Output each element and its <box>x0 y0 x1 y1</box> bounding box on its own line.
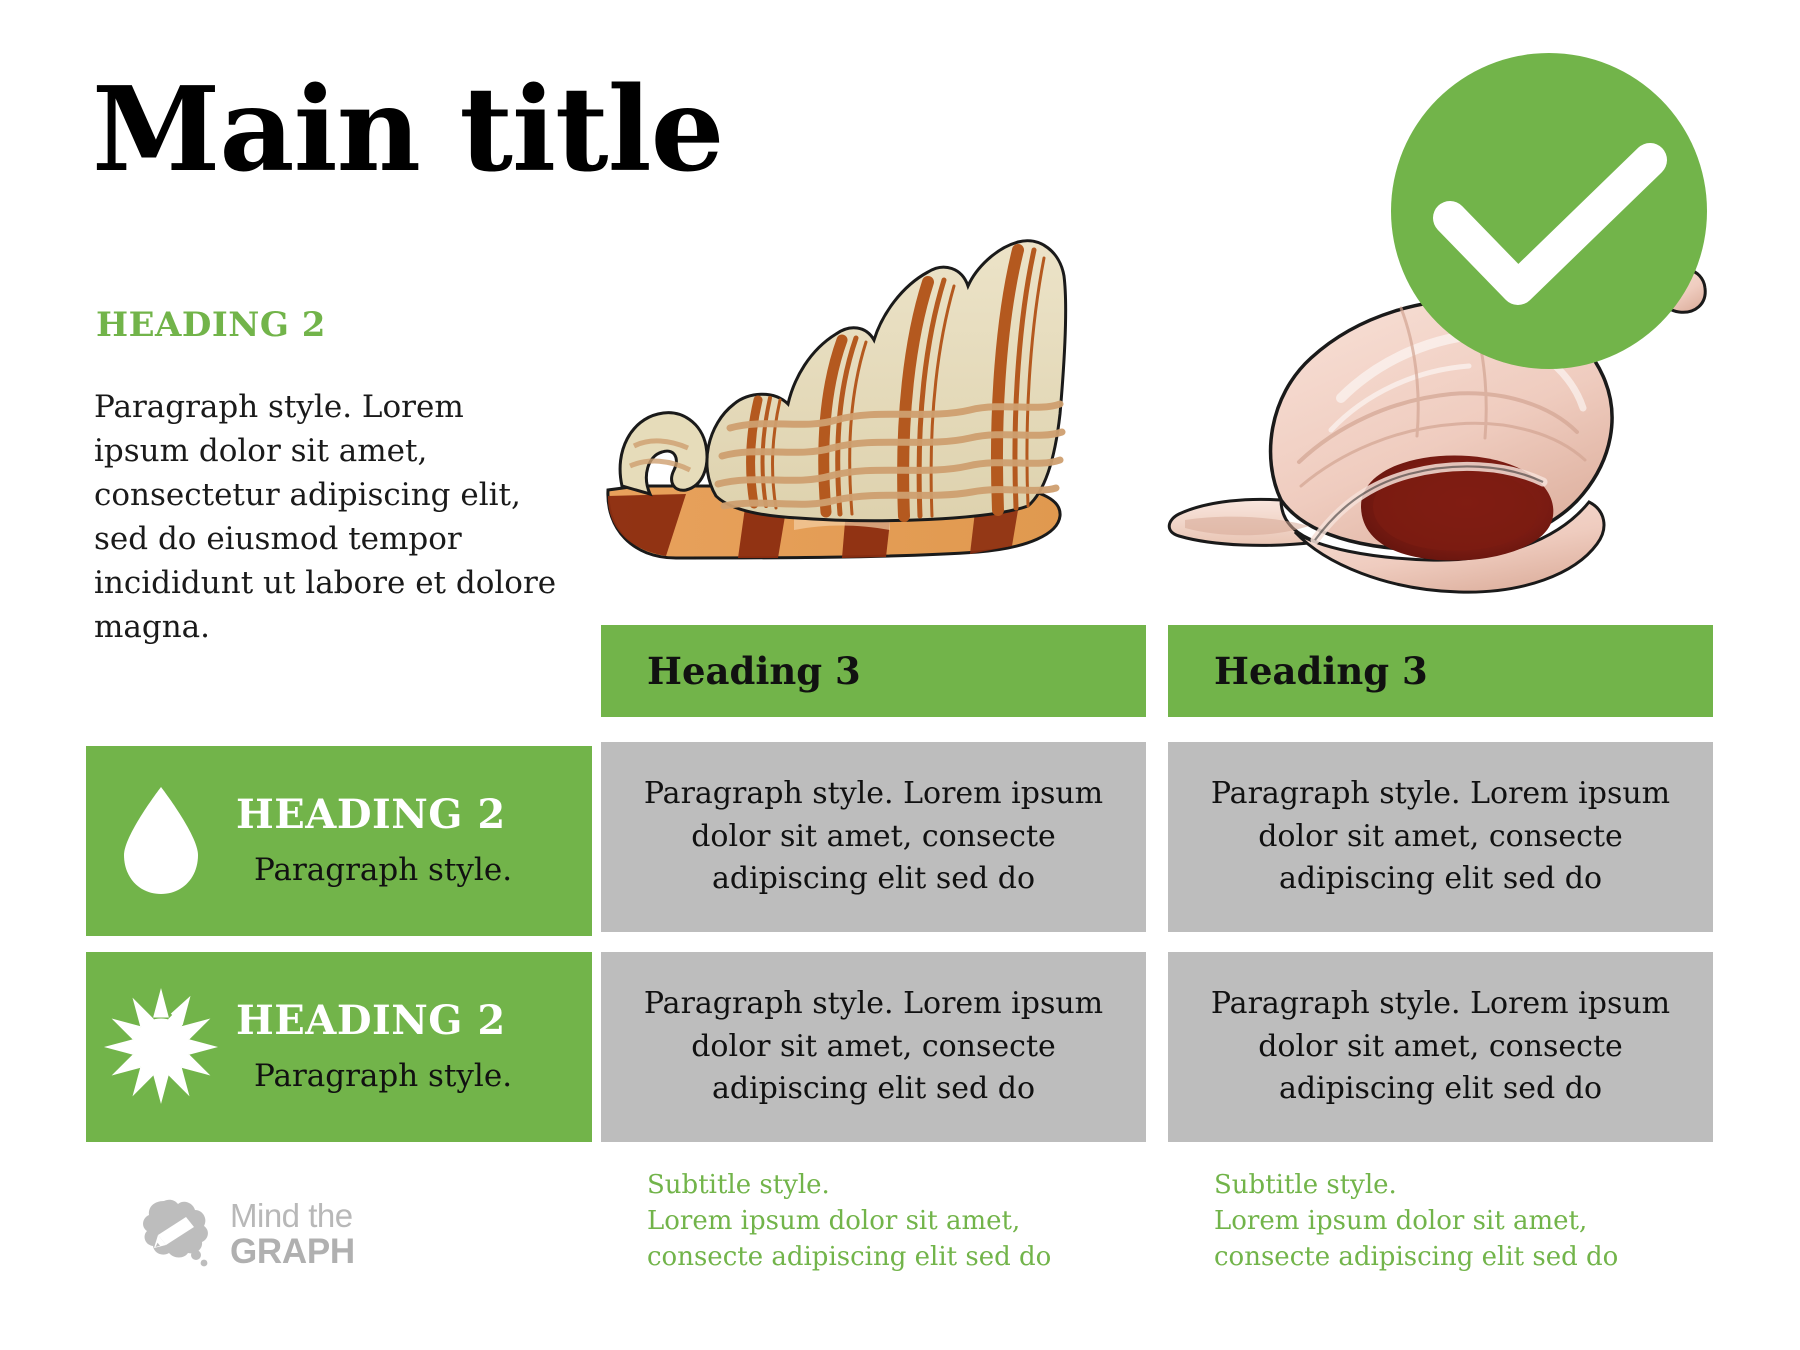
logo-line-2: GRAPH <box>230 1234 355 1269</box>
feature-heading: HEADING 2 <box>236 999 582 1044</box>
column-1-header: Heading 3 <box>601 625 1146 717</box>
section-heading-2: HEADING 2 <box>96 305 326 345</box>
page-title: Main title <box>92 72 723 188</box>
feature-subtext: Paragraph style. <box>236 852 582 889</box>
column-2-cell-1-text: Paragraph style. Lorem ipsum dolor sit a… <box>1202 773 1679 901</box>
column-1-header-text: Heading 3 <box>647 649 861 693</box>
feature-panel-water[interactable]: HEADING 2 Paragraph style. <box>86 746 592 936</box>
column-2-header-text: Heading 3 <box>1214 649 1428 693</box>
column-1-subtitle-line-1: Subtitle style. <box>647 1168 1146 1204</box>
column-2-header: Heading 3 <box>1168 625 1713 717</box>
column-1-subtitle-line-3: consecte adipiscing elit sed do <box>647 1240 1146 1276</box>
logo-line-1: Mind the <box>230 1199 355 1232</box>
feature-panel-water-text: HEADING 2 Paragraph style. <box>236 793 592 889</box>
column-1-cell-1: Paragraph style. Lorem ipsum dolor sit a… <box>601 742 1146 932</box>
column-2-subtitle-line-1: Subtitle style. <box>1214 1168 1713 1204</box>
column-2-subtitle: Subtitle style. Lorem ipsum dolor sit am… <box>1168 1168 1713 1276</box>
feature-panel-sun-text: HEADING 2 Paragraph style. <box>236 999 592 1095</box>
column-2-cell-2: Paragraph style. Lorem ipsum dolor sit a… <box>1168 952 1713 1142</box>
conch-shell-striped-icon <box>598 228 1068 638</box>
column-2-subtitle-line-3: consecte adipiscing elit sed do <box>1214 1240 1713 1276</box>
check-circle-icon <box>1388 50 1710 372</box>
column-1-subtitle: Subtitle style. Lorem ipsum dolor sit am… <box>601 1168 1146 1276</box>
column-2-cell-2-text: Paragraph style. Lorem ipsum dolor sit a… <box>1202 983 1679 1111</box>
intro-paragraph: Paragraph style. Lorem ipsum dolor sit a… <box>94 385 564 649</box>
brain-pencil-icon <box>140 1195 218 1272</box>
column-2-cell-1: Paragraph style. Lorem ipsum dolor sit a… <box>1168 742 1713 932</box>
column-1-cell-1-text: Paragraph style. Lorem ipsum dolor sit a… <box>635 773 1112 901</box>
water-drop-icon <box>86 785 236 897</box>
feature-panel-sun[interactable]: HEADING 2 Paragraph style. <box>86 952 592 1142</box>
column-2-subtitle-line-2: Lorem ipsum dolor sit amet, <box>1214 1204 1713 1240</box>
column-1-subtitle-line-2: Lorem ipsum dolor sit amet, <box>647 1204 1146 1240</box>
column-1-cell-2: Paragraph style. Lorem ipsum dolor sit a… <box>601 952 1146 1142</box>
infographic-canvas: Main title HEADING 2 Paragraph style. Lo… <box>0 0 1800 1350</box>
mind-the-graph-logo[interactable]: Mind the GRAPH <box>140 1195 355 1272</box>
feature-heading: HEADING 2 <box>236 793 582 838</box>
feature-subtext: Paragraph style. <box>236 1058 582 1095</box>
sun-icon <box>86 988 236 1106</box>
logo-wordmark: Mind the GRAPH <box>230 1199 355 1269</box>
column-1-cell-2-text: Paragraph style. Lorem ipsum dolor sit a… <box>635 983 1112 1111</box>
